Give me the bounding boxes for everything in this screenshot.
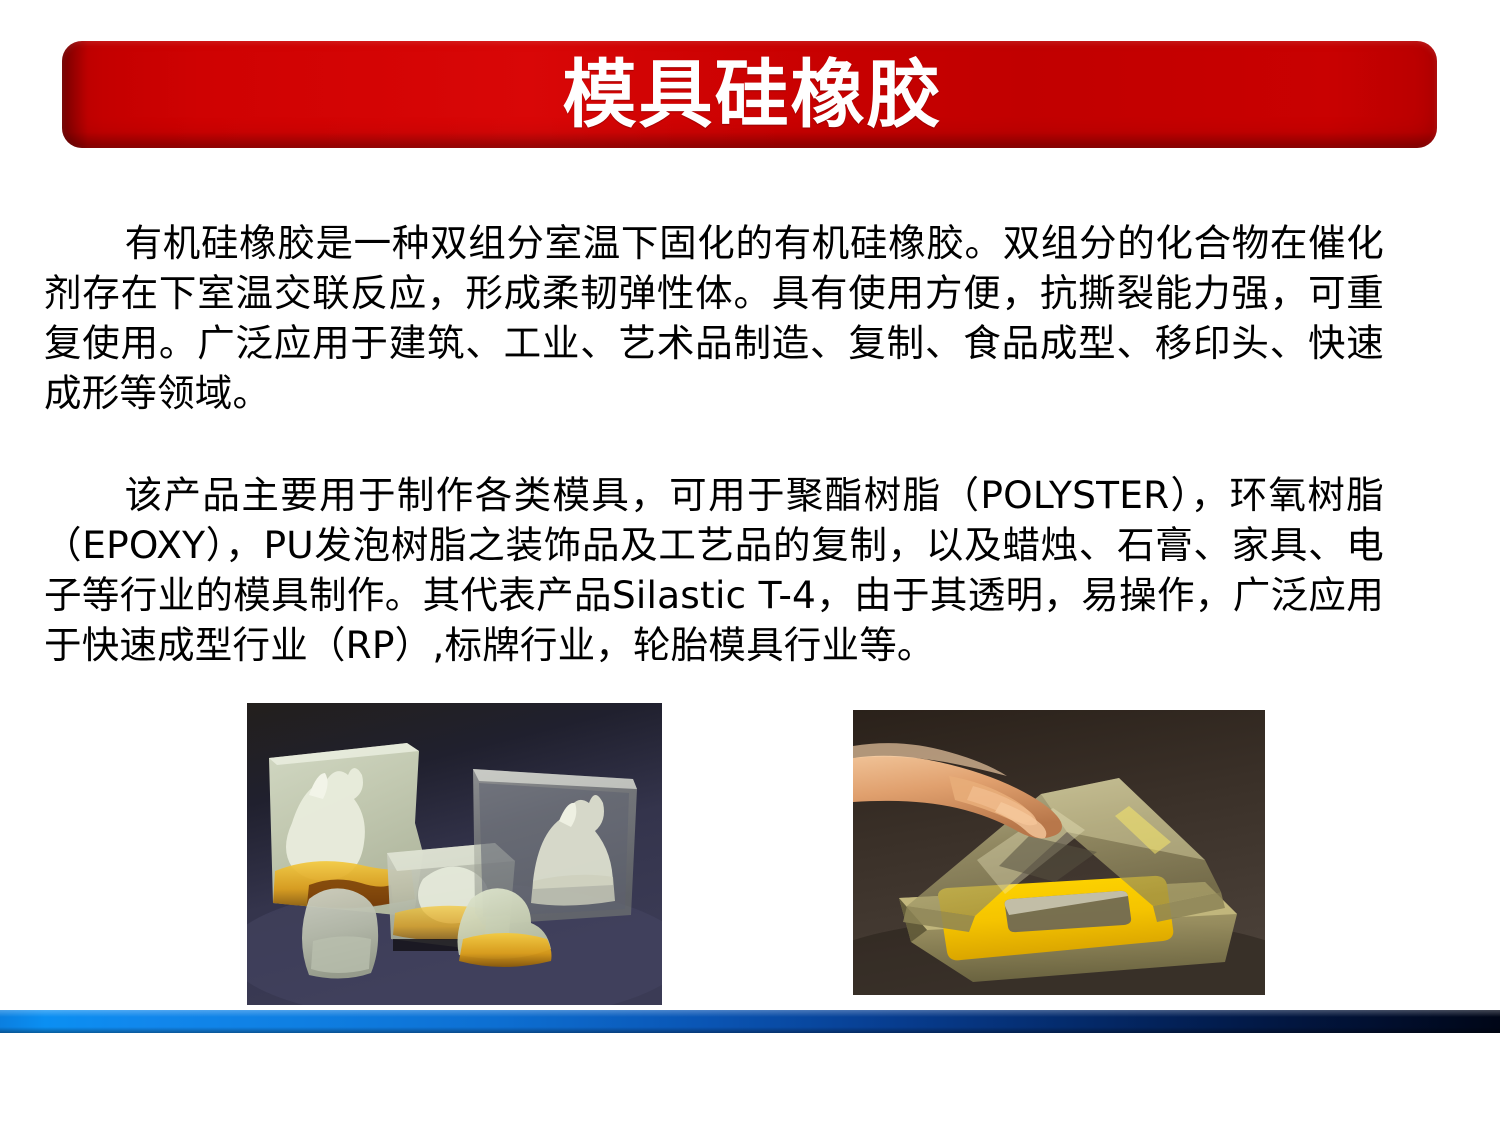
silicone-molds-photo bbox=[247, 703, 662, 1005]
paragraph-1: 有机硅橡胶是一种双组分室温下固化的有机硅橡胶。双组分的化合物在催化剂存在下室温交… bbox=[44, 218, 1384, 418]
footer-accent-bar bbox=[0, 1010, 1500, 1033]
mold-demold-illustration bbox=[853, 710, 1265, 995]
silicone-molds-illustration bbox=[247, 703, 662, 1005]
paragraph-2: 该产品主要用于制作各类模具，可用于聚酯树脂（POLYSTER），环氧树脂（EPO… bbox=[44, 470, 1384, 670]
body-copy: 有机硅橡胶是一种双组分室温下固化的有机硅橡胶。双组分的化合物在催化剂存在下室温交… bbox=[44, 218, 1384, 670]
paragraph-spacer bbox=[44, 418, 1384, 470]
page-title: 模具硅橡胶 bbox=[62, 41, 1437, 148]
mold-demold-photo bbox=[853, 710, 1265, 995]
title-banner: 模具硅橡胶 bbox=[62, 41, 1437, 148]
